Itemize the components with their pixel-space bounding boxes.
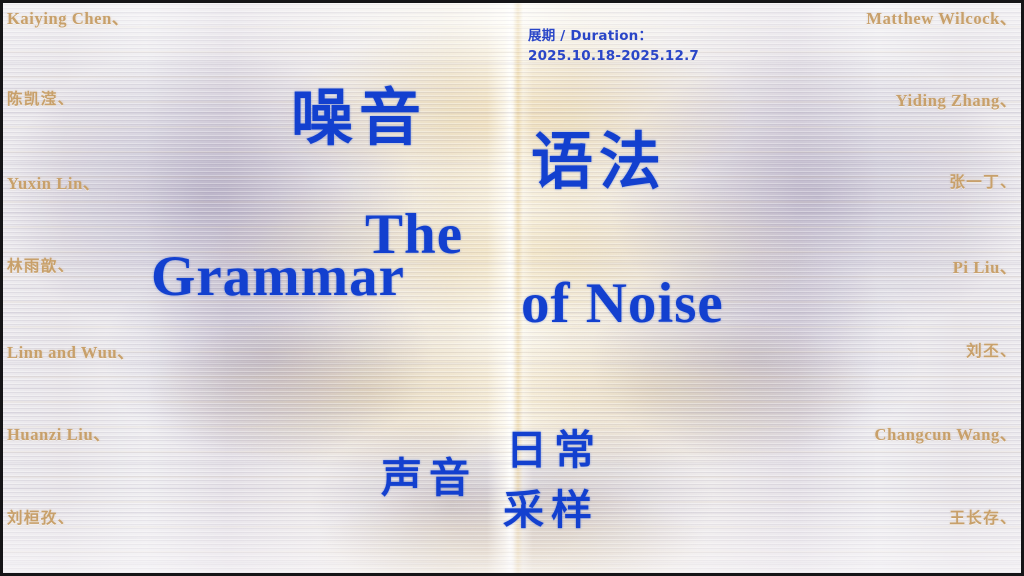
participant-name-left-2: Yuxin Lin、 (7, 170, 100, 194)
keyword-sound: 声音 (381, 458, 477, 499)
participant-name-right-6: 王长存、 (949, 506, 1017, 528)
participant-name-left-6: 刘桓孜、 (7, 506, 75, 528)
participant-name-right-0: Matthew Wilcock、 (866, 5, 1017, 29)
participant-name-right-2: 张一丁、 (949, 170, 1017, 192)
participant-name-left-4: Linn and Wuu、 (7, 339, 134, 363)
participant-name-left-1: 陈凯滢、 (7, 87, 75, 109)
title-en-of-noise: of Noise (521, 275, 724, 332)
exhibition-poster: Kaiying Chen、陈凯滢、Yuxin Lin、林雨歆、Linn and … (0, 0, 1024, 576)
keyword-sampling: 采样 (503, 490, 599, 531)
exhibition-duration: 展期 / Duration： 2025.10.18-2025.12.7 (528, 27, 699, 66)
participant-name-right-4: 刘丕、 (966, 339, 1017, 361)
keyword-everyday: 日常 (506, 430, 602, 471)
participant-name-right-5: Changcun Wang、 (875, 421, 1017, 445)
title-cn-grammar: 语法 (531, 131, 667, 193)
participant-name-left-3: 林雨歆、 (7, 254, 75, 276)
participant-name-left-0: Kaiying Chen、 (7, 5, 129, 29)
title-cn-noise: 噪音 (291, 87, 427, 149)
duration-dates: 2025.10.18-2025.12.7 (528, 47, 699, 67)
title-en-grammar: Grammar (151, 248, 405, 305)
duration-label: 展期 / Duration： (528, 27, 699, 47)
participant-name-left-5: Huanzi Liu、 (7, 421, 110, 445)
participant-name-right-1: Yiding Zhang、 (896, 87, 1017, 111)
participant-list-right: Matthew Wilcock、Yiding Zhang、张一丁、Pi Liu、… (691, 3, 1021, 573)
participant-name-right-3: Pi Liu、 (953, 254, 1017, 278)
